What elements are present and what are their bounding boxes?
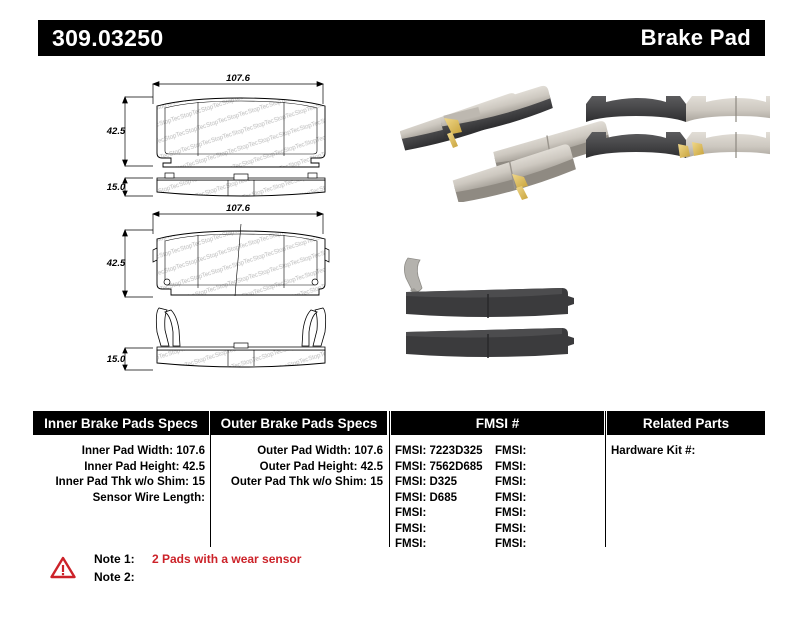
fmsi-row: FMSI: [395,537,495,553]
spec-row: Sensor Wire Length: [33,491,205,507]
table-header-row: Inner Brake Pads Specs Outer Brake Pads … [33,411,765,435]
fmsi-row: FMSI: 7562D685 [395,460,495,476]
column-header-fmsi: FMSI # [391,411,604,435]
notes-section: Note 1: 2 Pads with a wear sensor Note 2… [50,552,470,594]
spec-row: Inner Pad Thk w/o Shim: 15 [33,475,205,491]
note-rows: Note 1: 2 Pads with a wear sensor Note 2… [94,552,301,588]
fmsi-row: FMSI: 7223D325 [395,444,495,460]
photo-pad-plain [406,328,574,358]
inner-pad-drawing: StopTech 107.6 42.5 [95,68,345,203]
fmsi-row: FMSI: D685 [395,491,495,507]
brake-pad-profile-photo [392,232,592,377]
note-1-value: 2 Pads with a wear sensor [152,552,301,566]
fmsi-row: FMSI: [495,460,595,476]
spec-row: Outer Pad Width: 107.6 [211,444,383,460]
fmsi-row: FMSI: [495,444,595,460]
note-1-row: Note 1: 2 Pads with a wear sensor [94,552,301,570]
fmsi-list-secondary: FMSI: FMSI: FMSI: FMSI: FMSI: FMSI: FMSI… [495,444,595,553]
height-dimension-label: 42.5 [106,126,126,137]
thickness-dimension-label: 15.0 [107,354,126,365]
height-dimension [123,97,153,166]
note-1-label: Note 1: [94,552,146,566]
spec-row: Inner Pad Width: 107.6 [33,444,205,460]
column-header-related-parts: Related Parts [607,411,765,435]
spec-sheet-page: 309.03250 Brake Pad StopTech 107.6 42.5 [0,0,800,619]
column-header-inner-specs: Inner Brake Pads Specs [33,411,209,435]
spec-row: Inner Pad Height: 42.5 [33,460,205,476]
specs-table: Inner Brake Pads Specs Outer Brake Pads … [33,411,765,551]
part-number: 309.03250 [52,25,163,52]
column-divider [389,411,390,547]
inner-specs-list: Inner Pad Width: 107.6 Inner Pad Height:… [33,444,205,506]
header-bar: 309.03250 Brake Pad [38,20,765,56]
fmsi-row: FMSI: [495,522,595,538]
fmsi-row: FMSI: D325 [395,475,495,491]
outer-specs-list: Outer Pad Width: 107.6 Outer Pad Height:… [211,444,383,491]
fmsi-row: FMSI: [395,522,495,538]
pad-front-outline [157,98,325,167]
spec-row: Outer Pad Thk w/o Shim: 15 [211,475,383,491]
hardware-kit-row: Hardware Kit #: [611,444,761,460]
brake-pad-photo-group [400,82,770,202]
height-dimension-label: 42.5 [106,258,126,269]
height-dimension [123,230,153,297]
fmsi-row: FMSI: [495,491,595,507]
fmsi-list-primary: FMSI: 7223D325 FMSI: 7562D685 FMSI: D325… [395,444,495,553]
photo-pad-with-clip [404,258,574,318]
fmsi-row: FMSI: [495,537,595,553]
column-divider [605,411,606,547]
warning-triangle-icon [50,556,76,579]
fmsi-row: FMSI: [495,506,595,522]
product-type: Brake Pad [641,25,751,51]
related-parts-list: Hardware Kit #: [611,444,761,460]
pad-side-view-with-clips [156,308,325,367]
note-2-row: Note 2: [94,570,301,588]
fmsi-row: FMSI: [495,475,595,491]
thickness-dimension [123,178,153,196]
width-dimension-label: 107.6 [226,73,250,84]
spec-row: Outer Pad Height: 42.5 [211,460,383,476]
photo-angled-pads [400,85,612,202]
width-dimension-label: 107.6 [226,203,250,214]
outer-pad-drawing: 107.6 42.5 15.0 [95,200,345,385]
column-header-outer-specs: Outer Brake Pads Specs [211,411,387,435]
note-2-label: Note 2: [94,570,146,584]
photo-flat-pads [586,96,770,158]
thickness-dimension-label: 15.0 [107,182,126,193]
thickness-dimension [123,348,153,370]
pad-side-view [157,173,325,196]
pad-front-outline [153,224,329,296]
fmsi-row: FMSI: [395,506,495,522]
